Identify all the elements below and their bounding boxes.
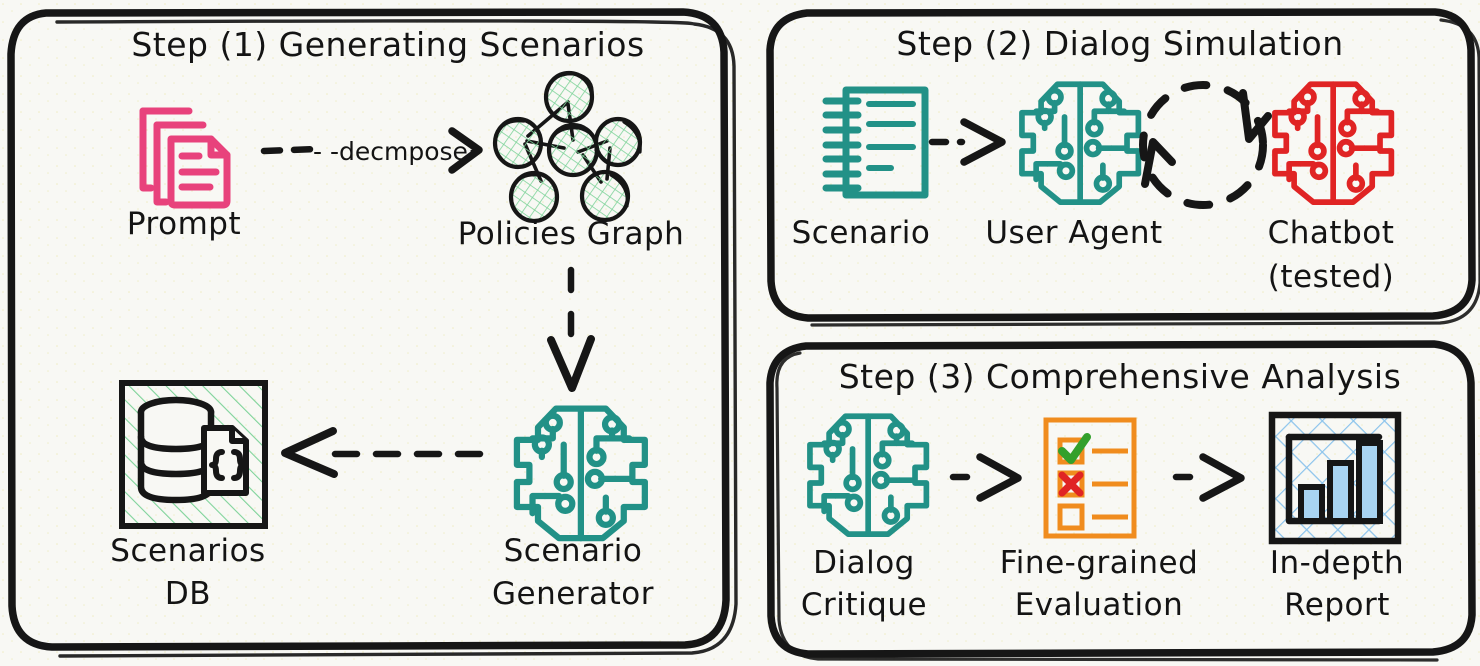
node-label-evaluation-line1: Fine-grained — [1000, 545, 1199, 581]
node-label-chatbot-line1: Chatbot — [1268, 215, 1395, 251]
bar-chart-report-icon — [1272, 415, 1398, 541]
node-label-dialog-critique-line2: Critique — [801, 587, 927, 623]
node-label-chatbot-line2: (tested) — [1268, 259, 1394, 295]
report-bar-2 — [1330, 463, 1351, 521]
node-label-dialog-critique-line1: Dialog — [813, 545, 915, 581]
report-bar-1 — [1301, 487, 1322, 521]
node-label-scenario-generator-line1: Scenario — [504, 533, 643, 569]
diagram-canvas: Prompt - -decmpose· — [0, 0, 1480, 666]
node-label-scenarios-db-line2: DB — [165, 576, 211, 612]
node-label-report-line2: Report — [1284, 587, 1390, 623]
node-label-scenarios-db-line1: Scenarios — [110, 533, 265, 569]
panel-title-step3: Step (3) Comprehensive Analysis — [839, 357, 1402, 396]
edge-label-decmpose: - -decmpose· — [313, 137, 476, 166]
node-label-user-agent: User Agent — [985, 215, 1162, 251]
report-bar-3 — [1359, 443, 1380, 521]
node-label-evaluation-line2: Evaluation — [1015, 587, 1184, 623]
panel-title-step1: Step (1) Generating Scenarios — [131, 25, 644, 64]
node-label-prompt: Prompt — [127, 206, 241, 242]
node-label-scenario: Scenario — [792, 215, 931, 251]
figure-root: Prompt - -decmpose· — [0, 0, 1480, 666]
node-label-policies-graph: Policies Graph — [458, 216, 685, 252]
node-label-report-line1: In-depth — [1270, 545, 1404, 581]
database-json-icon — [122, 383, 265, 526]
panel-title-step2: Step (2) Dialog Simulation — [896, 24, 1343, 63]
node-label-scenario-generator-line2: Generator — [492, 576, 654, 612]
